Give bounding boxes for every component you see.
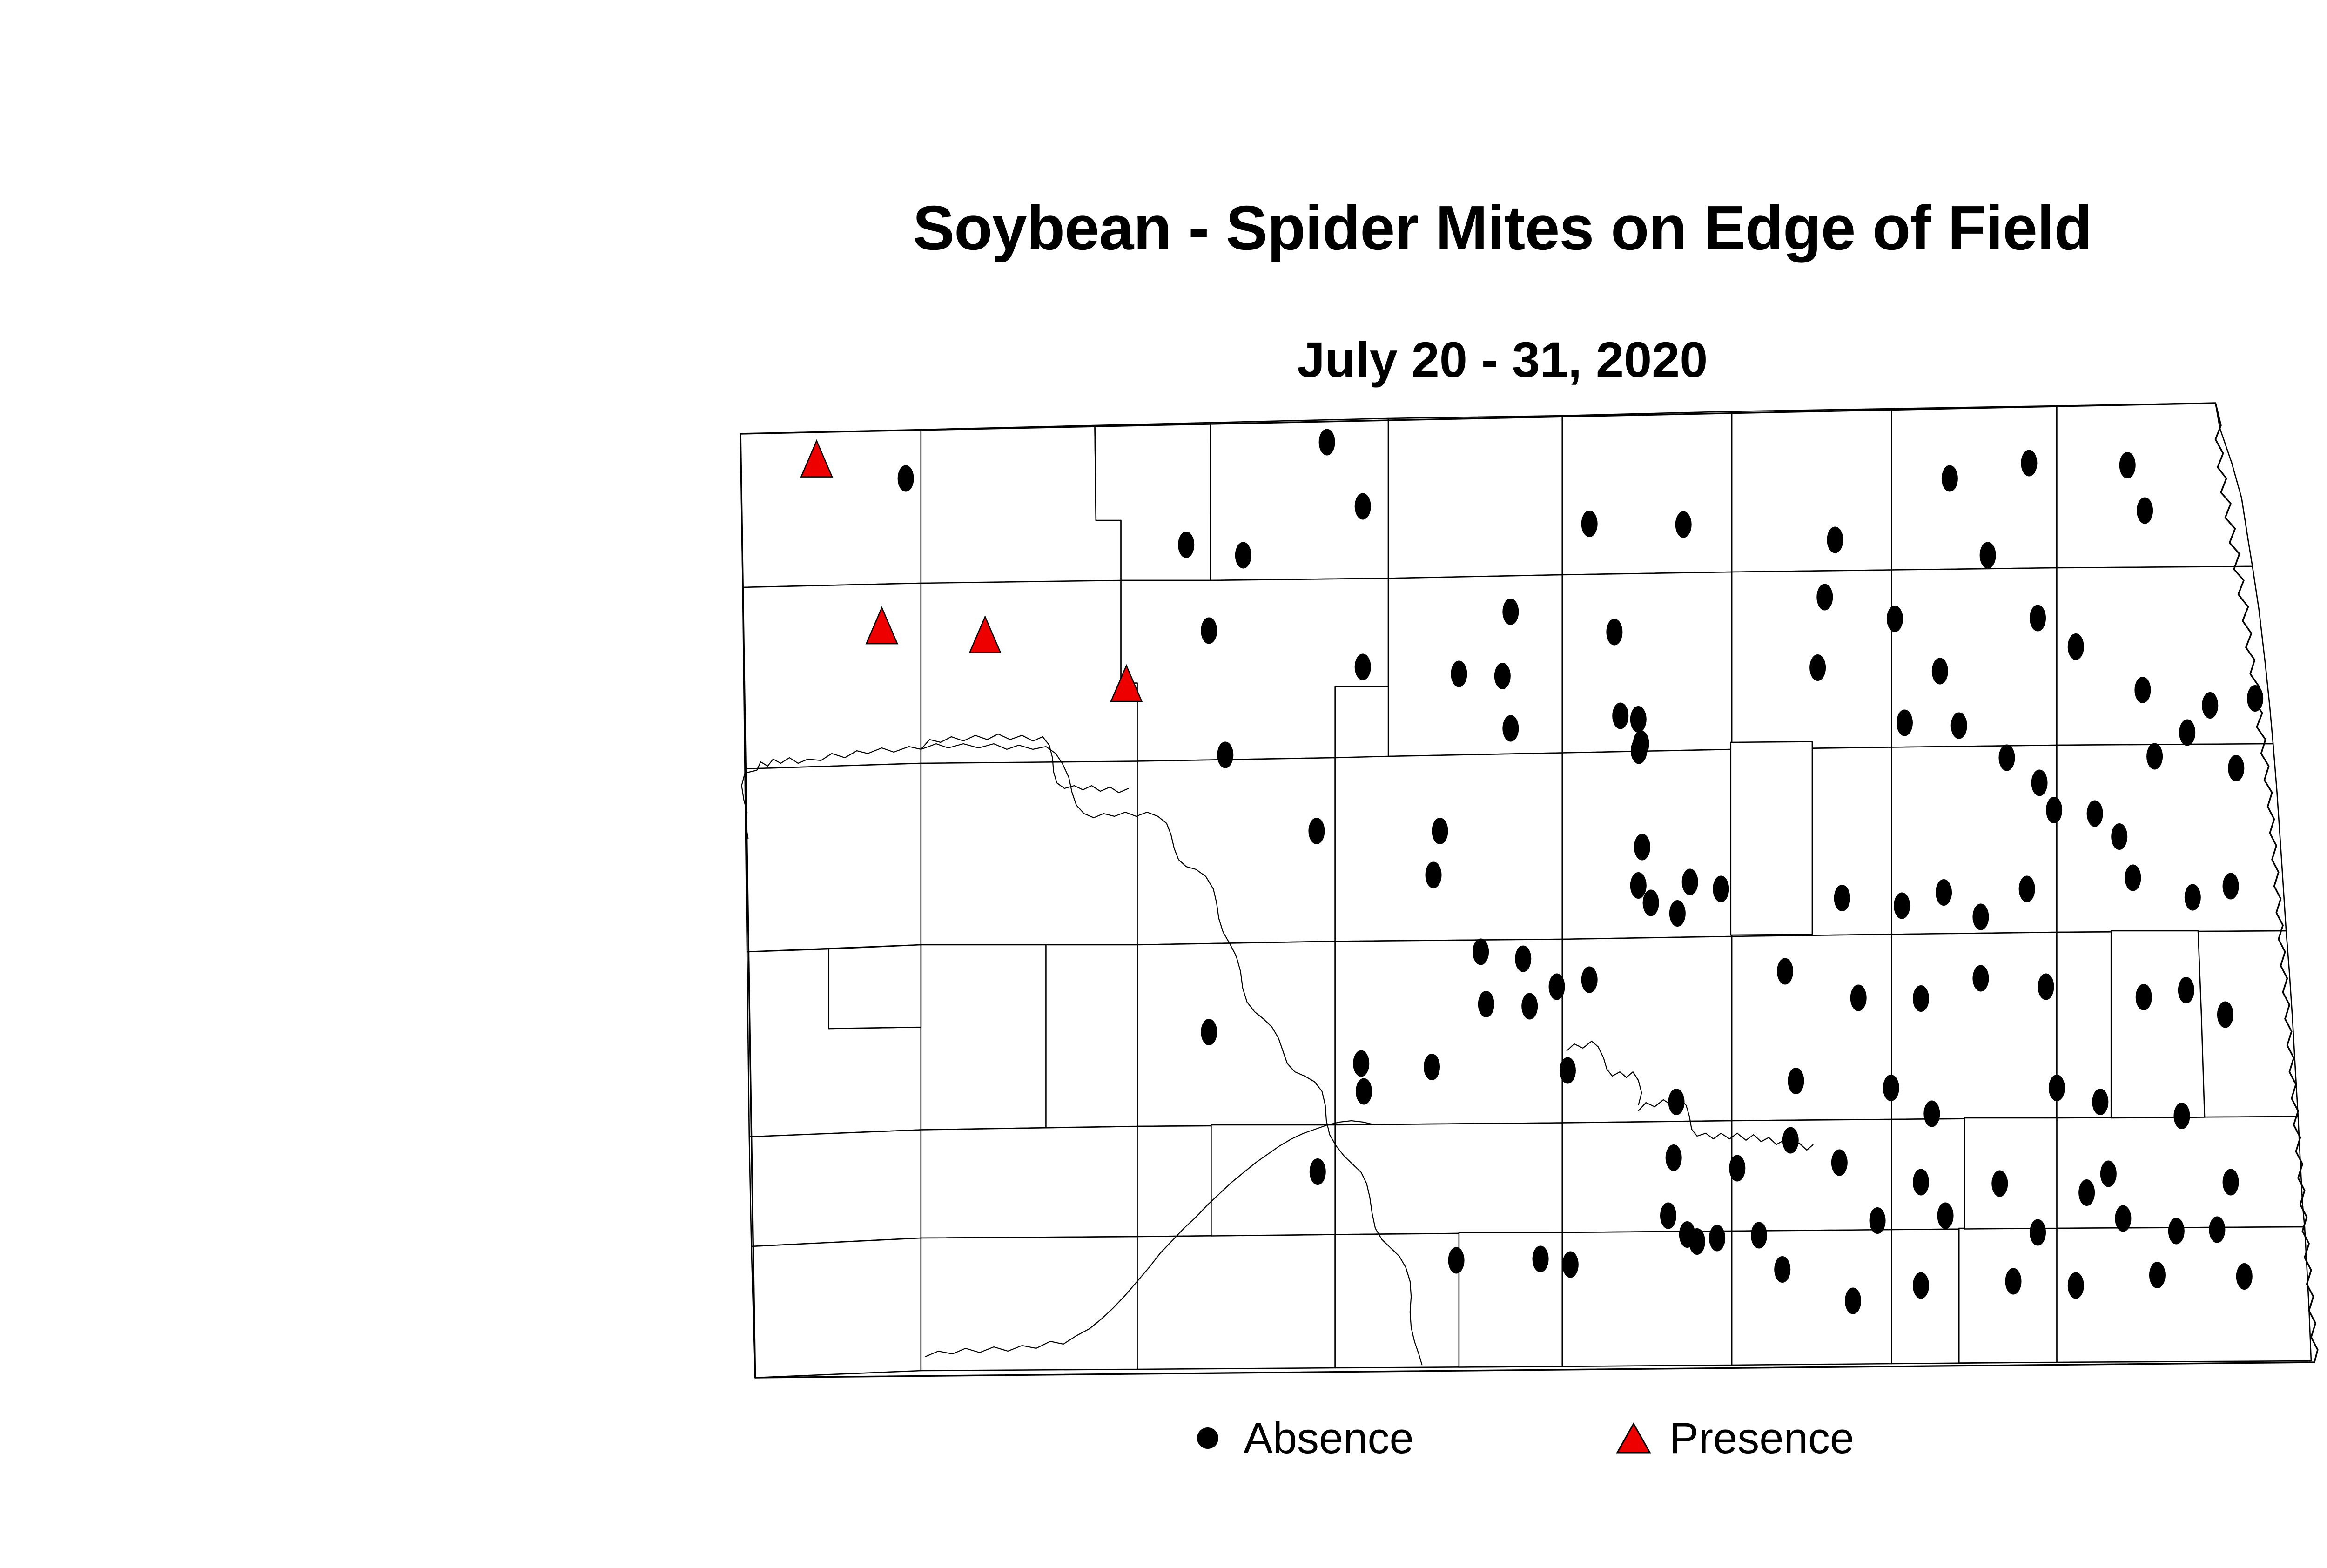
absence-marker	[1448, 1247, 1465, 1274]
absence-marker	[2005, 1268, 2021, 1295]
absence-marker	[1473, 939, 1489, 965]
absence-marker	[1612, 703, 1628, 729]
absence-marker	[1660, 1203, 1676, 1229]
absence-marker	[1356, 1078, 1372, 1105]
absence-marker	[1782, 1127, 1799, 1154]
absence-marker	[1777, 958, 1793, 985]
map-figure: Soybean - Spider Mites on Edge of Field …	[0, 0, 2327, 1568]
absence-marker	[1972, 904, 1989, 930]
absence-marker	[1831, 1150, 1848, 1176]
absence-marker	[2149, 1262, 2166, 1288]
map-svg	[666, 400, 2327, 1392]
absence-marker	[2046, 797, 2062, 823]
absence-marker	[2247, 685, 2263, 712]
absence-marker	[1424, 1054, 1440, 1080]
absence-marker	[1634, 834, 1650, 861]
absence-marker	[1689, 1228, 1705, 1255]
absence-marker	[2119, 452, 2136, 478]
absence-marker	[1709, 1225, 1725, 1252]
absence-marker	[1991, 1171, 2008, 1197]
absence-marker	[2137, 498, 2153, 524]
absence-marker	[1897, 710, 1913, 736]
absence-marker	[1549, 974, 1565, 1000]
county-boundaries	[740, 403, 2311, 1378]
absence-marker	[1894, 893, 1910, 919]
absence-marker	[1669, 900, 1686, 927]
absence-marker	[1494, 663, 1511, 689]
absence-marker	[1643, 890, 1659, 916]
absence-marker	[1751, 1222, 1767, 1249]
absence-marker	[2236, 1263, 2253, 1290]
absence-marker	[1845, 1288, 1861, 1314]
absence-marker	[2049, 1075, 2065, 1101]
legend-item-presence: Presence	[1608, 1410, 1854, 1466]
absence-marker	[1923, 1101, 1940, 1127]
absence-marker	[2185, 884, 2201, 911]
absence-marker	[1937, 1203, 1954, 1229]
absence-marker	[2179, 720, 2195, 746]
absence-marker	[1850, 985, 1867, 1011]
absence-marker	[1887, 606, 1903, 632]
absence-marker	[1972, 965, 1989, 992]
absence-marker	[2223, 1169, 2239, 1196]
absence-marker	[1235, 542, 1251, 569]
absence-marker	[1432, 818, 1448, 844]
absence-marker	[1355, 493, 1371, 520]
absence-marker	[1913, 985, 1929, 1012]
absence-marker	[1980, 542, 1996, 569]
absence-marker	[898, 465, 914, 492]
absence-marker	[2021, 450, 2037, 477]
absence-marker	[1682, 869, 1698, 895]
absence-marker	[1631, 738, 1647, 764]
absence-marker	[1630, 706, 1647, 733]
absence-marker	[2209, 1217, 2225, 1243]
absence-marker	[2100, 1161, 2117, 1187]
absence-marker	[1809, 654, 1826, 681]
absence-marker	[1515, 946, 1531, 972]
absence-marker	[2173, 1103, 2190, 1129]
absence-marker	[1913, 1169, 1929, 1196]
triangle-marker-icon	[1608, 1413, 1659, 1464]
absence-marker	[1201, 618, 1217, 644]
absence-marker	[2125, 865, 2141, 891]
absence-marker	[1451, 661, 1467, 687]
absence-marker	[2030, 605, 2046, 632]
absence-marker	[1827, 527, 1843, 553]
absence-marker	[1883, 1075, 1899, 1101]
absence-marker	[1630, 872, 1647, 899]
absence-marker	[1729, 1155, 1745, 1182]
absence-marker	[2111, 823, 2127, 850]
absence-marker	[1355, 654, 1371, 680]
absence-marker	[1581, 511, 1598, 537]
circle-marker-icon	[1182, 1413, 1233, 1464]
absence-marker	[2019, 876, 2035, 902]
absence-marker	[2068, 1272, 2084, 1299]
absence-marker	[1178, 532, 1194, 558]
absence-marker	[2115, 1205, 2131, 1232]
legend-label-absence: Absence	[1244, 1413, 1414, 1463]
absence-marker	[2031, 770, 2048, 796]
absence-marker	[2038, 974, 2054, 1000]
north-dakota-county-map	[666, 400, 2327, 1392]
page-subtitle: July 20 - 31, 2020	[0, 330, 2327, 389]
absence-marker	[1310, 1158, 1326, 1185]
absence-marker	[1998, 745, 2015, 771]
absence-marker	[1478, 991, 1494, 1017]
absence-marker	[1932, 658, 1948, 685]
absence-marker	[2068, 633, 2084, 660]
absence-marker	[1201, 1019, 1217, 1045]
absence-marker	[1870, 1207, 1886, 1234]
absence-marker	[2202, 692, 2218, 719]
absence-marker	[1353, 1050, 1369, 1077]
absence-marker	[1560, 1057, 1576, 1084]
absence-marker	[2168, 1218, 2185, 1245]
absence-marker	[1942, 465, 1958, 492]
absence-marker	[2092, 1089, 2108, 1115]
absence-marker	[2217, 1002, 2233, 1028]
legend-label-presence: Presence	[1669, 1413, 1854, 1463]
legend-item-absence: Absence	[1182, 1410, 1414, 1466]
absence-marker	[1951, 713, 1967, 739]
absence-marker	[1606, 619, 1622, 646]
absence-marker	[2228, 755, 2244, 781]
absence-marker	[1816, 584, 1833, 611]
absence-marker	[1913, 1272, 1929, 1299]
absence-marker	[2030, 1219, 2046, 1246]
absence-marker	[1562, 1252, 1579, 1278]
absence-marker	[1713, 876, 1729, 902]
absence-marker	[1502, 599, 1519, 625]
absence-marker	[2134, 677, 2151, 703]
absence-marker	[2078, 1179, 2095, 1206]
absence-marker	[2178, 977, 2194, 1003]
absence-marker	[1521, 993, 1538, 1020]
absence-marker	[1308, 818, 1325, 844]
absence-marker	[2087, 801, 2103, 827]
absence-marker	[1668, 1089, 1684, 1115]
absence-marker	[1774, 1256, 1790, 1283]
absence-marker	[2223, 873, 2239, 900]
absence-marker	[1666, 1144, 1682, 1171]
absence-marker	[2136, 984, 2152, 1010]
absence-marker	[1426, 862, 1442, 888]
absence-marker	[1217, 742, 1233, 768]
legend: Absence Presence	[0, 1410, 2327, 1494]
absence-marker	[1675, 511, 1692, 538]
absence-marker	[1533, 1246, 1549, 1272]
absence-marker	[1834, 885, 1850, 911]
absence-marker	[2146, 743, 2163, 770]
absence-marker	[1319, 429, 1335, 456]
absence-marker	[1502, 715, 1519, 742]
absence-marker	[1936, 879, 1952, 906]
absence-marker	[1788, 1068, 1804, 1094]
absence-marker	[1581, 967, 1598, 993]
page-title: Soybean - Spider Mites on Edge of Field	[0, 192, 2327, 264]
